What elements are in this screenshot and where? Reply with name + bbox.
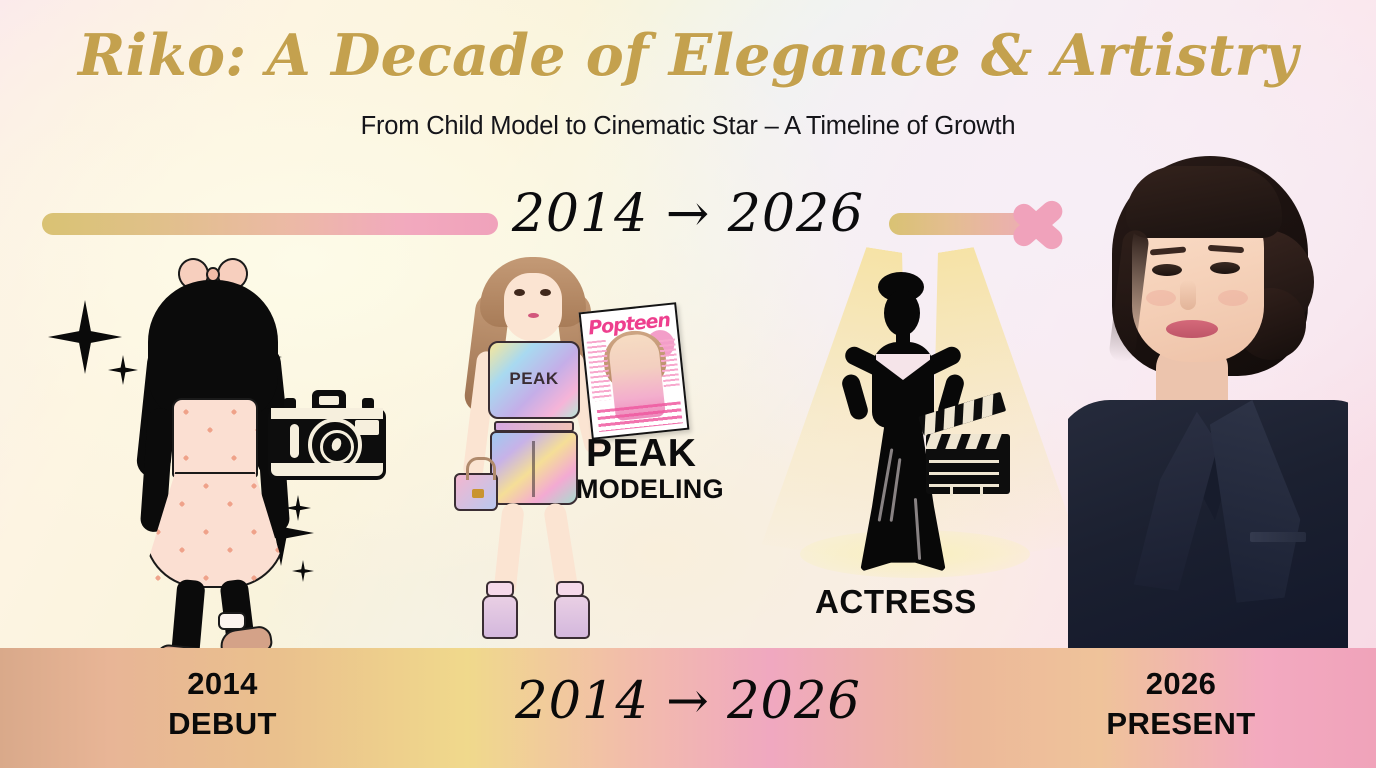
handbag-icon (454, 473, 498, 511)
page-title: Riko: A Decade of Elegance & Artistry (0, 26, 1376, 86)
peak-label: PEAK (586, 432, 696, 476)
infographic-canvas: Riko: A Decade of Elegance & Artistry Fr… (0, 0, 1376, 768)
footer-right-group: 2026 PRESENT (1056, 664, 1306, 743)
tee-graphic-text: PEAK (490, 369, 578, 389)
magazine-cover: Popteen (579, 302, 690, 440)
actress-label: ACTRESS (815, 583, 977, 621)
clapperboard-icon (922, 404, 1014, 496)
footer-right-label: PRESENT (1056, 704, 1306, 744)
footer-right-year: 2026 (1056, 664, 1306, 704)
sparkle-icon (48, 300, 122, 374)
portrait-photo-navy-blazer (1068, 138, 1348, 650)
page-subtitle: From Child Model to Cinematic Star – A T… (0, 112, 1376, 141)
modeling-label: MODELING (576, 474, 724, 505)
camera-icon (268, 390, 386, 480)
footer-bar: 2014 DEBUT 2014 → 2026 2026 PRESENT (0, 648, 1376, 768)
